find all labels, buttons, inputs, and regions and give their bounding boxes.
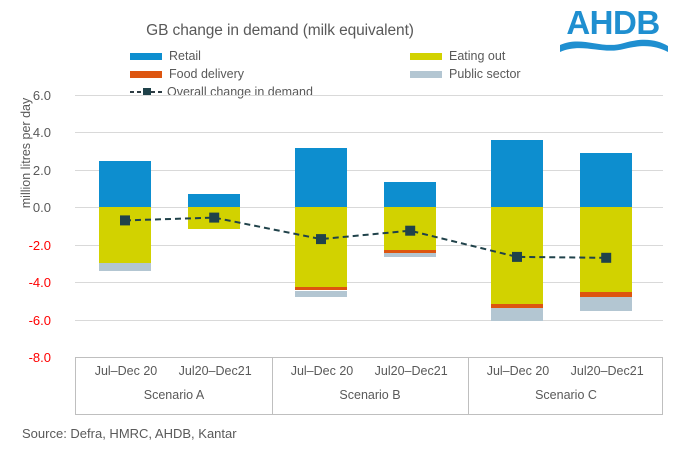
- x-tick-period-label: Jul20–Dec21: [167, 364, 263, 378]
- legend-item-food-delivery[interactable]: Food delivery: [130, 67, 244, 81]
- x-group-divider: [468, 358, 469, 414]
- legend-swatch-public-sector: [410, 71, 442, 78]
- y-axis-title: million litres per day: [19, 43, 33, 263]
- overall-change-line: [75, 95, 663, 357]
- x-tick-period-label: Jul–Dec 20: [274, 364, 370, 378]
- legend-label-food-delivery: Food delivery: [169, 67, 244, 81]
- page-title: GB change in demand (milk equivalent): [0, 22, 560, 40]
- legend-swatch-eating-out: [410, 53, 442, 60]
- x-tick-period-label: Jul–Dec 20: [470, 364, 566, 378]
- legend-label-eating-out: Eating out: [449, 49, 505, 63]
- x-group-label: Scenario B: [272, 388, 468, 402]
- x-group-label: Scenario A: [76, 388, 272, 402]
- y-tick-label: -6.0: [0, 314, 51, 327]
- overall-change-marker[interactable]: [512, 252, 522, 262]
- legend-swatch-food-delivery: [130, 71, 162, 78]
- chart-container: AHDB GB change in demand (milk equivalen…: [0, 0, 680, 455]
- overall-change-marker[interactable]: [209, 213, 219, 223]
- plot-area: 6.04.02.00.0-2.0-4.0-6.0-8.0 million lit…: [75, 95, 663, 357]
- overall-change-marker[interactable]: [316, 234, 326, 244]
- chart-legend: Retail Food delivery Eating out Public s…: [130, 48, 560, 100]
- legend-swatch-retail: [130, 53, 162, 60]
- x-tick-period-label: Jul20–Dec21: [363, 364, 459, 378]
- legend-item-public-sector[interactable]: Public sector: [410, 67, 521, 81]
- legend-item-retail[interactable]: Retail: [130, 49, 201, 63]
- overall-change-marker[interactable]: [601, 253, 611, 263]
- svg-text:AHDB: AHDB: [566, 4, 659, 41]
- overall-change-marker[interactable]: [405, 226, 415, 236]
- x-tick-period-label: Jul20–Dec21: [559, 364, 655, 378]
- y-tick-label: -8.0: [0, 351, 51, 364]
- x-tick-period-label: Jul–Dec 20: [78, 364, 174, 378]
- overall-change-polyline: [125, 218, 606, 258]
- y-tick-label: -4.0: [0, 276, 51, 289]
- x-group-label: Scenario C: [468, 388, 664, 402]
- ahdb-logo: AHDB: [554, 2, 672, 54]
- legend-label-retail: Retail: [169, 49, 201, 63]
- legend-label-public-sector: Public sector: [449, 67, 521, 81]
- overall-change-marker[interactable]: [120, 215, 130, 225]
- x-group-divider: [272, 358, 273, 414]
- x-axis-categories: Jul–Dec 20Jul20–Dec21Scenario AJul–Dec 2…: [75, 357, 663, 415]
- source-note: Source: Defra, HMRC, AHDB, Kantar: [22, 426, 237, 441]
- legend-item-eating-out[interactable]: Eating out: [410, 49, 505, 63]
